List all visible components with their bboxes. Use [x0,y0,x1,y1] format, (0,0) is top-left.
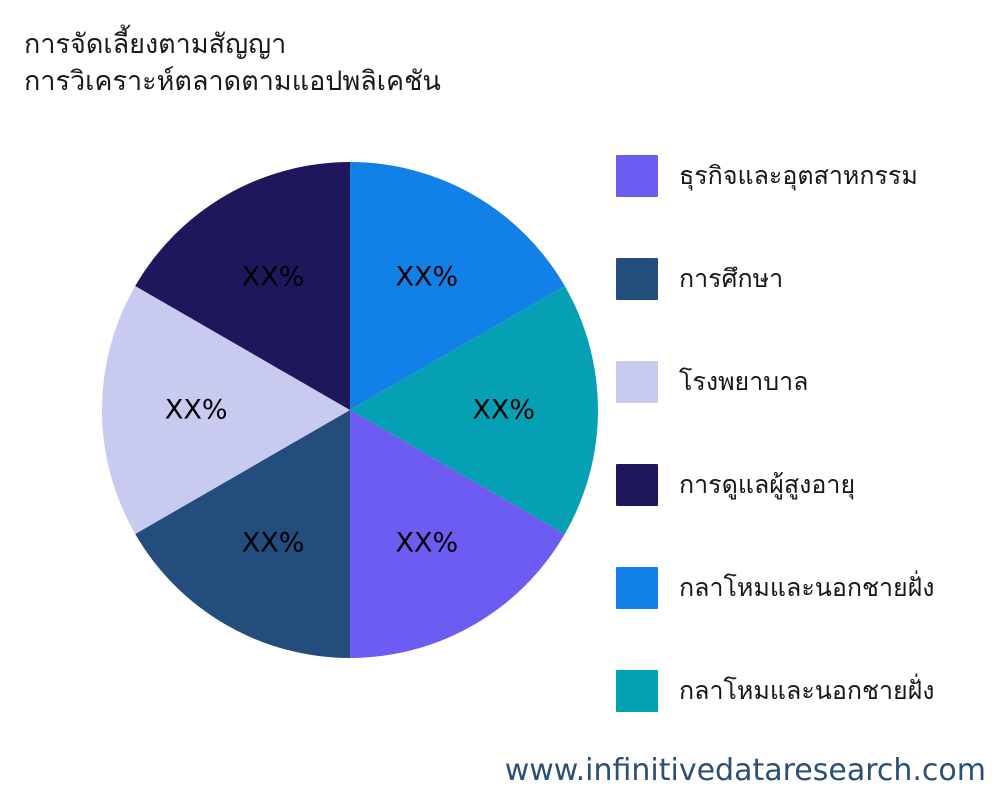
legend-swatch-icon [616,258,658,300]
legend-swatch-icon [616,567,658,609]
legend-swatch-icon [616,464,658,506]
website-url[interactable]: www.infinitivedataresearch.com [505,753,986,788]
legend-item[interactable]: กลาโหมและนอกชายฝั่ง [616,567,996,609]
legend-swatch-icon [616,670,658,712]
legend-item-label: การศึกษา [679,265,783,293]
pie-slice-label: XX% [472,395,535,426]
legend-item[interactable]: โรงพยาบาล [616,361,996,403]
legend-item-label: ธุรกิจและอุตสาหกรรม [679,162,918,190]
legend-item-label: กลาโหมและนอกชายฝั่ง [679,677,935,705]
legend-item-label: กลาโหมและนอกชายฝั่ง [679,574,935,602]
legend-item-label: การดูแลผู้สูงอายุ [679,471,855,499]
legend: ธุรกิจและอุตสาหกรรม การศึกษา โรงพยาบาล ก… [616,155,996,712]
legend-item[interactable]: การศึกษา [616,258,996,300]
pie-slice-label: XX% [396,261,459,292]
pie-slice-label: XX% [396,528,459,559]
pie-chart-svg: XX%XX%XX%XX%XX%XX% [102,162,598,658]
legend-swatch-icon [616,155,658,197]
pie-slice-label: XX% [242,528,305,559]
legend-item[interactable]: กลาโหมและนอกชายฝั่ง [616,670,996,712]
legend-item-label: โรงพยาบาล [679,368,808,396]
pie-slice-label: XX% [242,261,305,292]
pie-chart: XX%XX%XX%XX%XX%XX% [102,162,598,658]
legend-item[interactable]: ธุรกิจและอุตสาหกรรม [616,155,996,197]
legend-swatch-icon [616,361,658,403]
pie-slice-label: XX% [165,395,228,426]
page-title: การจัดเลี้ยงตามสัญญา การวิเคราะห์ตลาดตาม… [24,26,624,101]
legend-item[interactable]: การดูแลผู้สูงอายุ [616,464,996,506]
